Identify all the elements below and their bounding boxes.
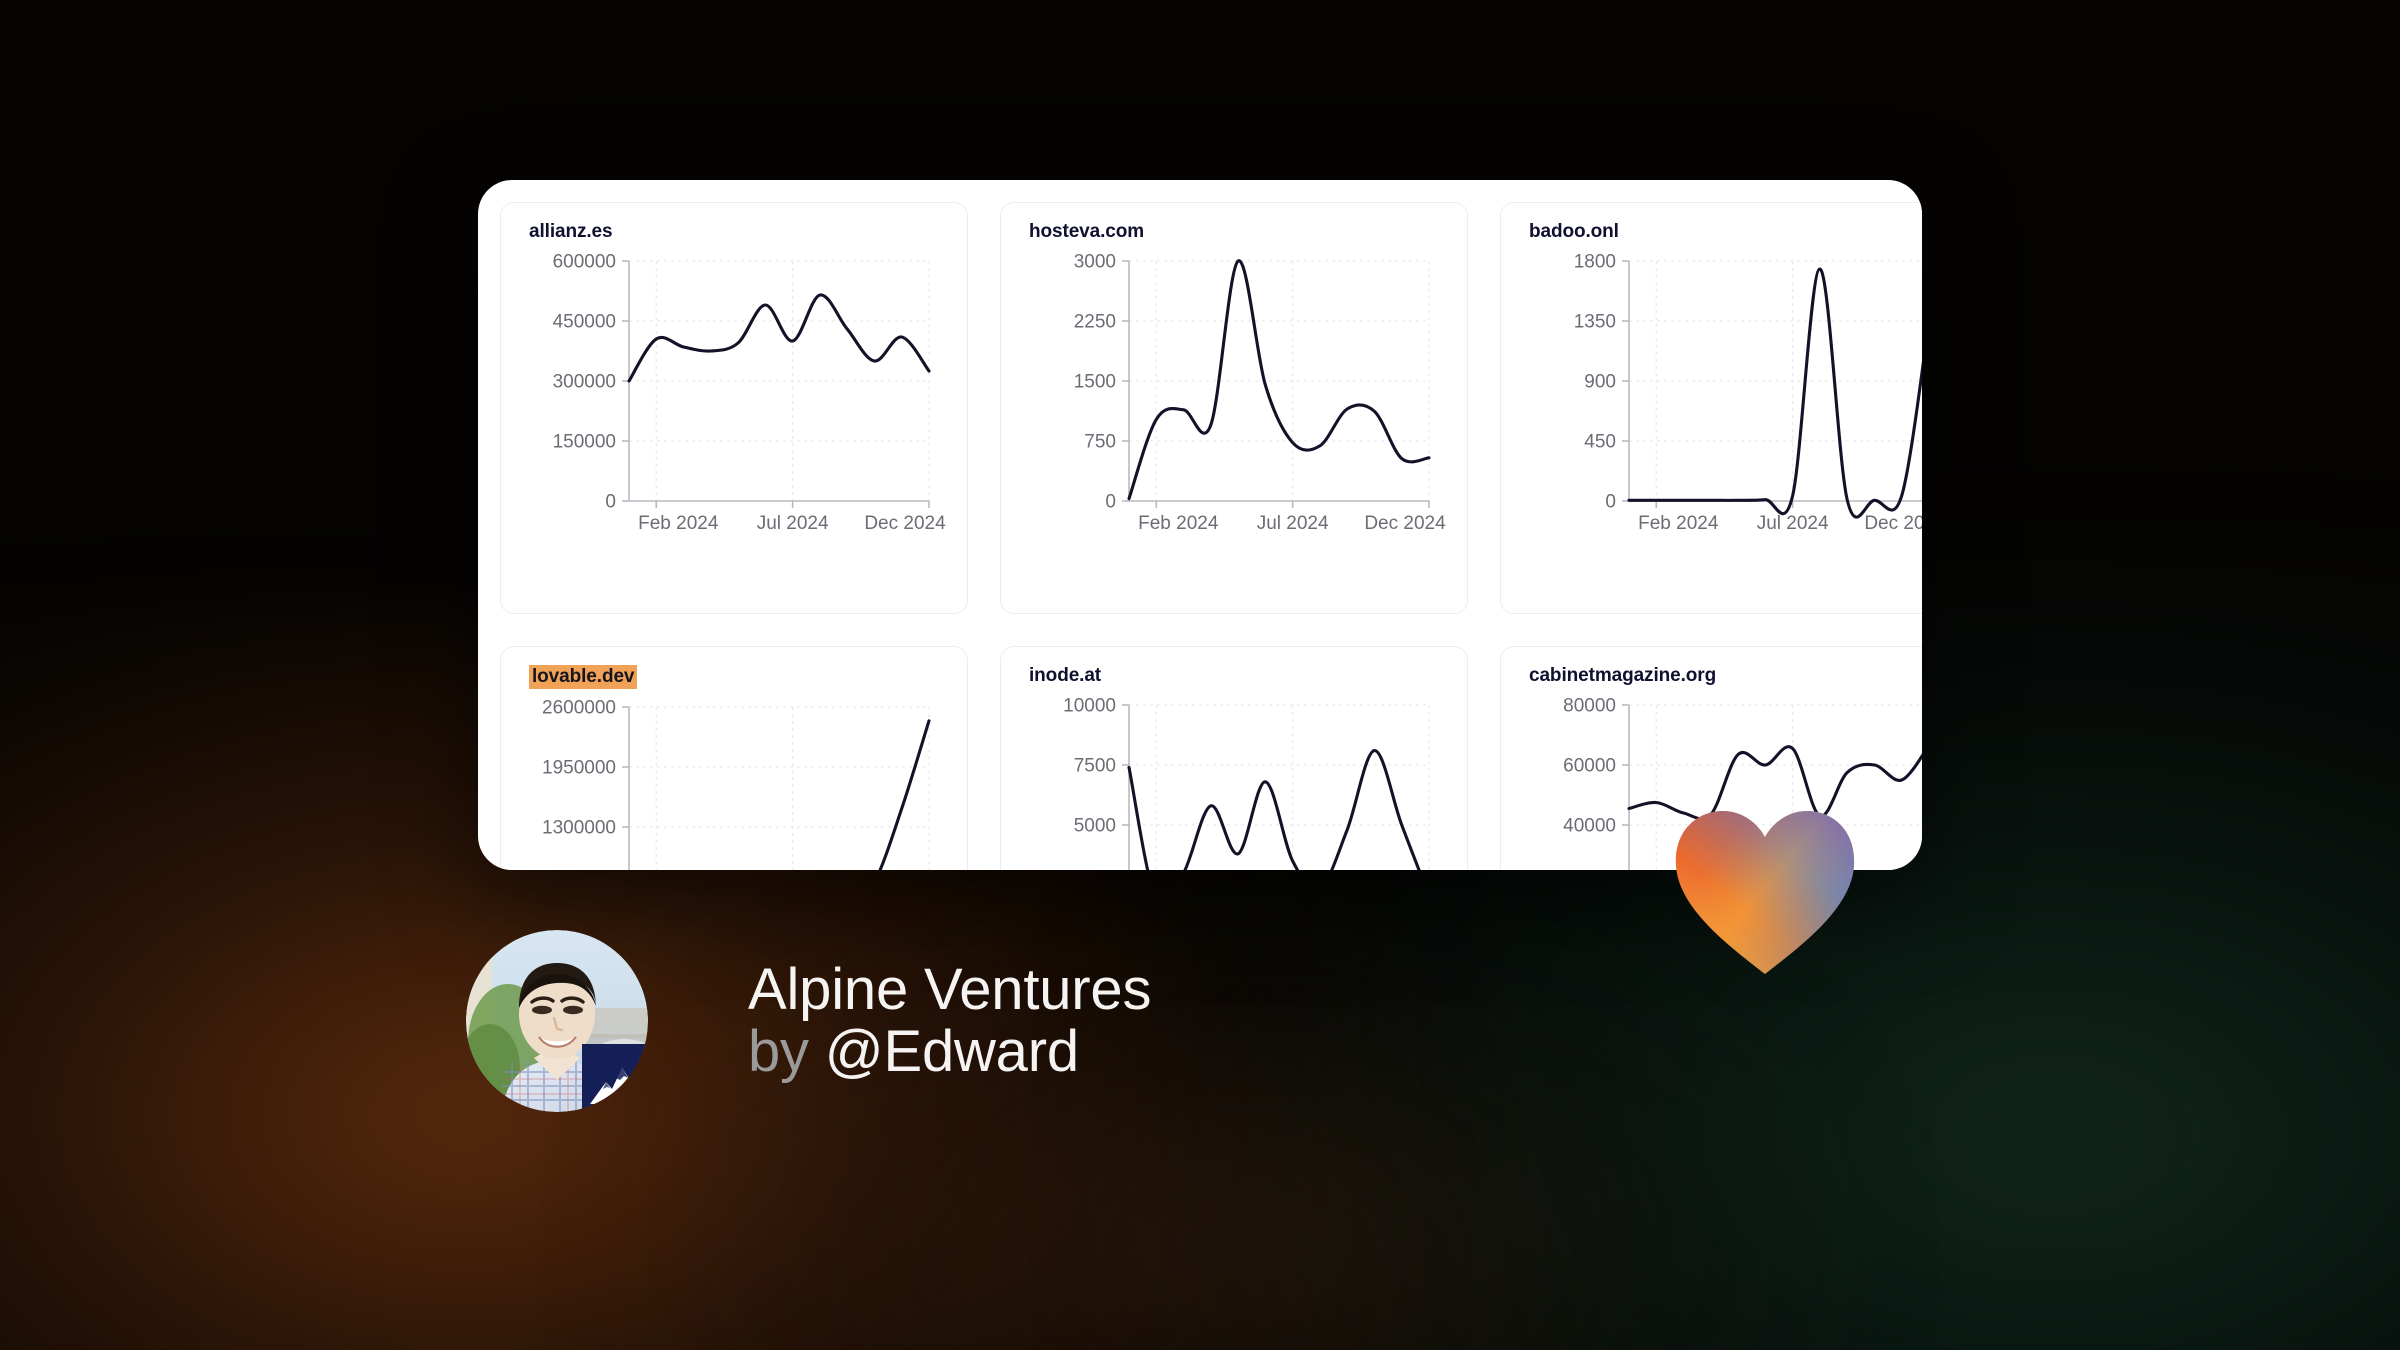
byline-handle[interactable]: @Edward bbox=[825, 1019, 1079, 1084]
y-axis-tick-label: 750 bbox=[1084, 432, 1116, 453]
x-axis-tick-label: Feb 2024 bbox=[1138, 513, 1219, 534]
y-axis-tick-label: 900 bbox=[1584, 372, 1616, 393]
dashboard-card: allianz.es0150000300000450000600000Feb 2… bbox=[478, 180, 1922, 870]
byline: by @Edward bbox=[748, 1021, 1151, 1083]
mountain-logo-badge bbox=[582, 1044, 648, 1112]
chart-title: inode.at bbox=[1029, 665, 1101, 687]
series-line bbox=[629, 721, 929, 870]
byline-prefix: by bbox=[748, 1019, 809, 1084]
y-axis-tick-label: 10000 bbox=[1063, 696, 1116, 717]
chart-title: lovable.dev bbox=[529, 665, 637, 689]
x-axis-tick-label: Feb 2024 bbox=[1638, 513, 1719, 534]
y-axis-tick-label: 0 bbox=[1605, 492, 1616, 513]
plot-area: 25005000750010000Feb 2024Jul 2024Dec 202… bbox=[1017, 691, 1447, 870]
y-axis-tick-label: 300000 bbox=[553, 372, 616, 393]
y-axis-tick-label: 2600000 bbox=[542, 698, 616, 719]
y-axis-tick-label: 450000 bbox=[553, 312, 616, 333]
chart-panel[interactable]: inode.at25005000750010000Feb 2024Jul 202… bbox=[1000, 646, 1468, 870]
y-axis-tick-label: 600000 bbox=[553, 252, 616, 273]
series-line bbox=[1129, 751, 1429, 870]
chart-panel[interactable]: allianz.es0150000300000450000600000Feb 2… bbox=[500, 202, 968, 614]
plot-area: 045090013501800Feb 2024Jul 2024Dec 2024 bbox=[1517, 247, 1922, 547]
y-axis-tick-label: 450 bbox=[1584, 432, 1616, 453]
y-axis-tick-label: 2250 bbox=[1074, 312, 1116, 333]
line-chart: 650000130000019500002600000Feb 2024Jul 2… bbox=[517, 693, 947, 870]
y-axis-tick-label: 40000 bbox=[1563, 816, 1616, 837]
y-axis-tick-label: 80000 bbox=[1563, 696, 1616, 717]
plot-area: 0150000300000450000600000Feb 2024Jul 202… bbox=[517, 247, 947, 547]
chart-panel[interactable]: lovable.dev650000130000019500002600000Fe… bbox=[500, 646, 968, 870]
avatar[interactable] bbox=[466, 930, 648, 1112]
plot-area: 0750150022503000Feb 2024Jul 2024Dec 2024 bbox=[1017, 247, 1447, 547]
chart-grid: allianz.es0150000300000450000600000Feb 2… bbox=[478, 180, 1922, 870]
y-axis-tick-label: 150000 bbox=[553, 432, 616, 453]
y-axis-tick-label: 5000 bbox=[1074, 816, 1116, 837]
org-name: Alpine Ventures bbox=[748, 959, 1151, 1021]
chart-title: badoo.onl bbox=[1529, 221, 1619, 243]
y-axis-tick-label: 1500 bbox=[1074, 372, 1116, 393]
x-axis-tick-label: Dec 2024 bbox=[1864, 513, 1922, 534]
line-chart: 0150000300000450000600000Feb 2024Jul 202… bbox=[517, 247, 947, 547]
profile-block: Alpine Ventures by @Edward bbox=[466, 930, 1151, 1112]
chart-panel[interactable]: hosteva.com0750150022503000Feb 2024Jul 2… bbox=[1000, 202, 1468, 614]
line-chart: 20000400006000080000Feb 2024Jul 2024Dec … bbox=[1517, 691, 1922, 870]
x-axis-tick-label: Jul 2024 bbox=[1757, 513, 1829, 534]
x-axis-tick-label: Feb 2024 bbox=[638, 513, 719, 534]
chart-title: cabinetmagazine.org bbox=[1529, 665, 1716, 687]
y-axis-tick-label: 0 bbox=[1105, 492, 1116, 513]
plot-area: 20000400006000080000Feb 2024Jul 2024Dec … bbox=[1517, 691, 1922, 870]
y-axis-tick-label: 1950000 bbox=[542, 758, 616, 779]
y-axis-tick-label: 0 bbox=[605, 492, 616, 513]
series-line bbox=[1629, 269, 1922, 517]
y-axis-tick-label: 1350 bbox=[1574, 312, 1616, 333]
line-chart: 0750150022503000Feb 2024Jul 2024Dec 2024 bbox=[1017, 247, 1447, 547]
chart-title: allianz.es bbox=[529, 221, 613, 243]
x-axis-tick-label: Jul 2024 bbox=[757, 513, 829, 534]
y-axis-tick-label: 60000 bbox=[1563, 756, 1616, 777]
line-chart: 045090013501800Feb 2024Jul 2024Dec 2024 bbox=[1517, 247, 1922, 547]
series-line bbox=[629, 295, 929, 381]
x-axis-tick-label: Jul 2024 bbox=[1257, 513, 1329, 534]
x-axis-tick-label: Dec 2024 bbox=[864, 513, 946, 534]
y-axis-tick-label: 3000 bbox=[1074, 252, 1116, 273]
identity-text: Alpine Ventures by @Edward bbox=[748, 959, 1151, 1083]
chart-title: hosteva.com bbox=[1029, 221, 1144, 243]
y-axis-tick-label: 7500 bbox=[1074, 756, 1116, 777]
x-axis-tick-label: Dec 2024 bbox=[1364, 513, 1446, 534]
plot-area: 650000130000019500002600000Feb 2024Jul 2… bbox=[517, 693, 947, 870]
chart-panel[interactable]: cabinetmagazine.org20000400006000080000F… bbox=[1500, 646, 1922, 870]
y-axis-tick-label: 1800 bbox=[1574, 252, 1616, 273]
y-axis-tick-label: 1300000 bbox=[542, 818, 616, 839]
series-line bbox=[1629, 746, 1922, 819]
series-line bbox=[1129, 261, 1429, 499]
chart-panel[interactable]: badoo.onl045090013501800Feb 2024Jul 2024… bbox=[1500, 202, 1922, 614]
line-chart: 25005000750010000Feb 2024Jul 2024Dec 202… bbox=[1017, 691, 1447, 870]
